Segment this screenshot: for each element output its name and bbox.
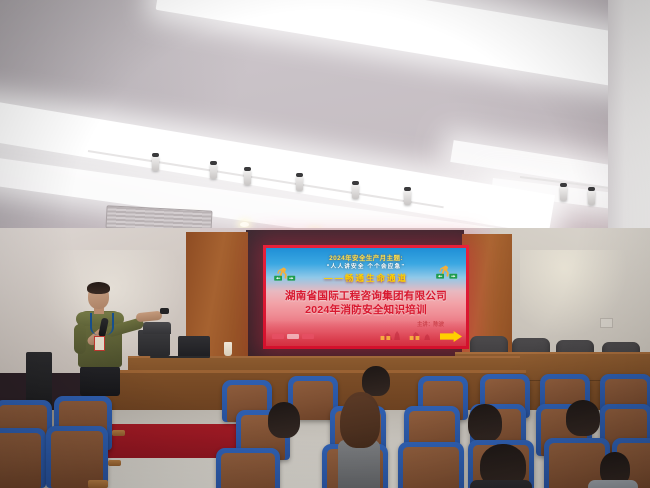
audience-head: [268, 402, 300, 438]
seat: [398, 442, 464, 488]
seat: [0, 428, 46, 488]
slide-footer-chips: [272, 334, 314, 339]
track-spotlight-icon: [210, 164, 217, 179]
lanyard-strap: [90, 313, 114, 335]
track-spotlight-icon: [152, 156, 159, 171]
presenter-left-arm: [74, 324, 86, 354]
audience-torso: [470, 480, 532, 488]
slide-theme-label: 2024年安全生产月主题:: [266, 252, 466, 262]
slide-chip: [302, 334, 314, 339]
slide-training-title: 2024年消防安全知识培训: [266, 302, 466, 317]
lanyard-id-badge: [94, 336, 105, 351]
slide-organization-name: 湖南省国际工程咨询集团有限公司: [266, 288, 466, 303]
track-spotlight-icon: [352, 184, 359, 199]
wall-light-glow-right: [520, 250, 630, 340]
audience-torso: [588, 480, 638, 488]
presenter-right-forearm: [136, 311, 163, 323]
led-presentation-screen[interactable]: 2024年安全生产月主题: “人人讲安全 个个会应急” ——畅通生命通道 湖南省…: [263, 245, 469, 349]
track-spotlight-icon: [296, 176, 303, 191]
audience-seating: [0, 352, 650, 488]
recessed-downlight-icon: [240, 222, 249, 227]
seat: [46, 426, 108, 488]
seat-armrest: [88, 480, 108, 488]
seat-armrest: [112, 430, 125, 436]
audience-head: [566, 400, 600, 436]
slide-chip: [272, 334, 284, 339]
audience-head: [362, 366, 390, 396]
presenter-clicker: [160, 308, 169, 314]
seat-armrest: [108, 460, 121, 466]
slide-content: 2024年安全生产月主题: “人人讲安全 个个会应急” ——畅通生命通道 湖南省…: [266, 248, 466, 346]
slide-theme-quote: “人人讲安全 个个会应急”: [266, 262, 466, 270]
audience-head: [468, 404, 502, 442]
track-spotlight-icon: [404, 190, 411, 205]
presenter-hair: [87, 282, 110, 294]
slide-theme-sub: ——畅通生命通道: [266, 272, 466, 284]
wall-socket: [600, 318, 613, 328]
seat: [216, 448, 280, 488]
auditorium-photo-scene: 2024年安全生产月主题: “人人讲安全 个个会应急” ——畅通生命通道 湖南省…: [0, 0, 650, 488]
ceiling: [0, 0, 650, 250]
track-spotlight-icon: [244, 170, 251, 185]
audience-head: [340, 396, 380, 448]
track-spotlight-icon: [588, 190, 595, 205]
slide-chip: [287, 334, 299, 339]
track-spotlight-icon: [560, 186, 567, 201]
